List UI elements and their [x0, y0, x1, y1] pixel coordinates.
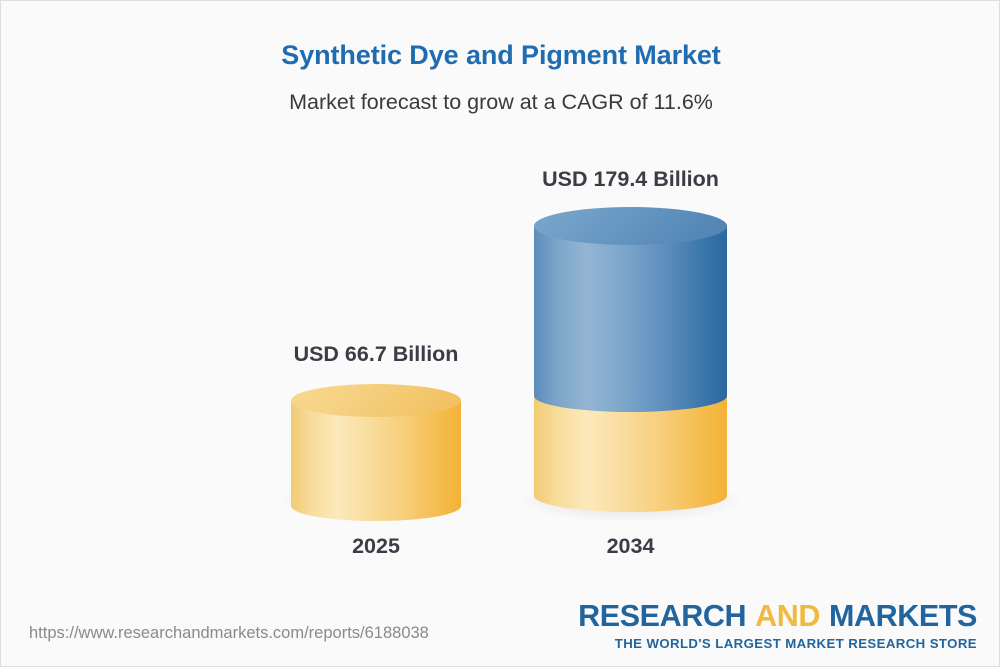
- logo-tagline: THE WORLD'S LARGEST MARKET RESEARCH STOR…: [578, 637, 977, 650]
- segment-top-cap: [534, 207, 727, 245]
- cylinder-segment-base-2034: [534, 395, 727, 514]
- logo-word-research: RESEARCH: [578, 599, 746, 633]
- value-label-2025: USD 66.7 Billion: [231, 342, 521, 367]
- segment-bottom-cap: [534, 380, 727, 412]
- research-and-markets-logo[interactable]: RESEARCHANDMARKETS THE WORLD'S LARGEST M…: [578, 601, 977, 650]
- segment-body: [534, 225, 727, 395]
- value-label-2034: USD 179.4 Billion: [474, 167, 787, 192]
- plot-area: USD 66.7 Billion 2025 USD 179.4 Billion: [1, 1, 1000, 601]
- source-url[interactable]: https://www.researchandmarkets.com/repor…: [29, 624, 429, 643]
- category-label-2034: 2034: [474, 534, 787, 559]
- bar-group-2034[interactable]: USD 179.4 Billion 2034: [534, 1, 727, 601]
- cylinder-segment-growth-2034: [534, 207, 727, 412]
- logo-word-and: AND: [755, 599, 820, 633]
- segment-top-cap: [291, 384, 461, 417]
- logo-wordmark: RESEARCHANDMARKETS: [578, 601, 977, 632]
- segment-bottom-cap: [534, 480, 727, 512]
- cylinder-2034: [534, 207, 727, 514]
- bar-group-2025[interactable]: USD 66.7 Billion 2025: [291, 1, 461, 601]
- infographic-canvas: Synthetic Dye and Pigment Market Market …: [0, 0, 1000, 667]
- segment-bottom-cap: [291, 491, 461, 521]
- cylinder-2025: [291, 384, 461, 514]
- logo-word-markets: MARKETS: [829, 599, 977, 633]
- cylinder-segment-base-2025: [291, 384, 461, 514]
